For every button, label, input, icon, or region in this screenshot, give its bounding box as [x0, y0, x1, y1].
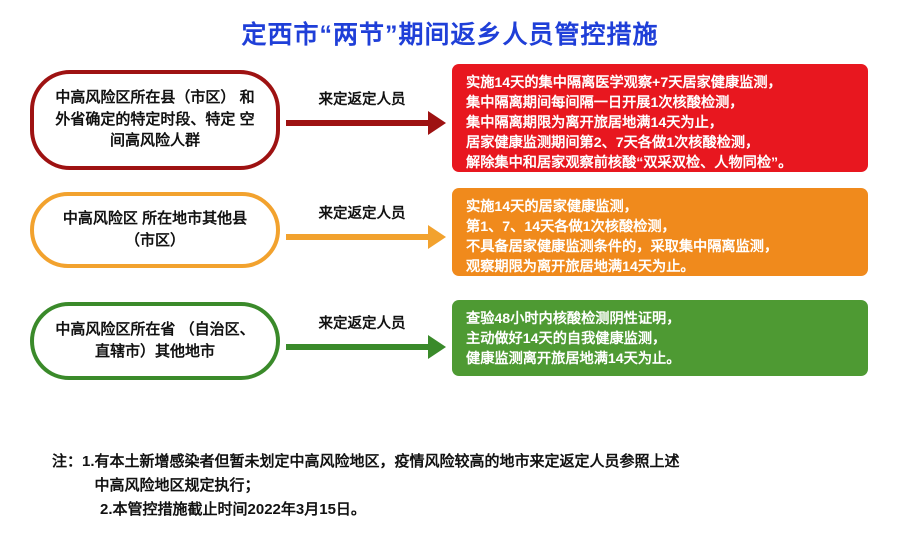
footnote-item-2: 2. 本管控措施截止时间2022年3月15日。	[52, 498, 872, 522]
footnote-number-1: 1.	[82, 450, 95, 474]
footnote-number-2: 2.	[100, 498, 113, 522]
arrow-label-2: 来定返定人员	[286, 202, 438, 223]
page-title: 定西市“两节”期间返乡人员管控措施	[0, 0, 900, 50]
arrow-label-1: 来定返定人员	[286, 88, 438, 109]
footnote-text-1: 有本土新增感染者但暂未划定中高风险地区，疫情风险较高的地市来定返定人员参照上述 …	[95, 450, 680, 498]
footnote-label: 注：	[52, 450, 82, 474]
arrow-line-3	[286, 344, 432, 350]
arrow-head-icon-1	[428, 111, 446, 135]
measure-panel-2: 实施14天的居家健康监测， 第1、7、14天各做1次核酸检测， 不具备居家健康监…	[452, 188, 868, 276]
flow-arrow-3: 来定返定人员	[286, 332, 450, 362]
arrow-line-1	[286, 120, 432, 126]
footnotes: 注： 1. 有本土新增感染者但暂未划定中高风险地区，疫情风险较高的地市来定返定人…	[52, 450, 872, 522]
arrow-head-icon-2	[428, 225, 446, 249]
arrow-line-2	[286, 234, 432, 240]
risk-category-capsule-3: 中高风险区所在省 （自治区、直辖市）其他地市	[30, 302, 280, 380]
measure-panel-1: 实施14天的集中隔离医学观察+7天居家健康监测， 集中隔离期间每间隔一日开展1次…	[452, 64, 868, 172]
flow-row-2: 中高风险区 所在地市其他县（市区） 来定返定人员 实施14天的居家健康监测， 第…	[0, 178, 900, 288]
flow-diagram: 中高风险区所在县（市区） 和外省确定的特定时段、特定 空间高风险人群 来定返定人…	[0, 50, 900, 410]
arrow-head-icon-3	[428, 335, 446, 359]
flow-arrow-1: 来定返定人员	[286, 108, 450, 138]
risk-category-capsule-1: 中高风险区所在县（市区） 和外省确定的特定时段、特定 空间高风险人群	[30, 70, 280, 170]
measure-panel-3: 查验48小时内核酸检测阴性证明， 主动做好14天的自我健康监测， 健康监测离开旅…	[452, 300, 868, 376]
risk-category-capsule-2: 中高风险区 所在地市其他县（市区）	[30, 192, 280, 268]
flow-arrow-2: 来定返定人员	[286, 222, 450, 252]
footnote-item-1: 注： 1. 有本土新增感染者但暂未划定中高风险地区，疫情风险较高的地市来定返定人…	[52, 450, 872, 498]
arrow-label-3: 来定返定人员	[286, 312, 438, 333]
footnote-text-2: 本管控措施截止时间2022年3月15日。	[113, 498, 366, 522]
flow-row-3: 中高风险区所在省 （自治区、直辖市）其他地市 来定返定人员 查验48小时内核酸检…	[0, 288, 900, 398]
flow-row-1: 中高风险区所在县（市区） 和外省确定的特定时段、特定 空间高风险人群 来定返定人…	[0, 64, 900, 174]
